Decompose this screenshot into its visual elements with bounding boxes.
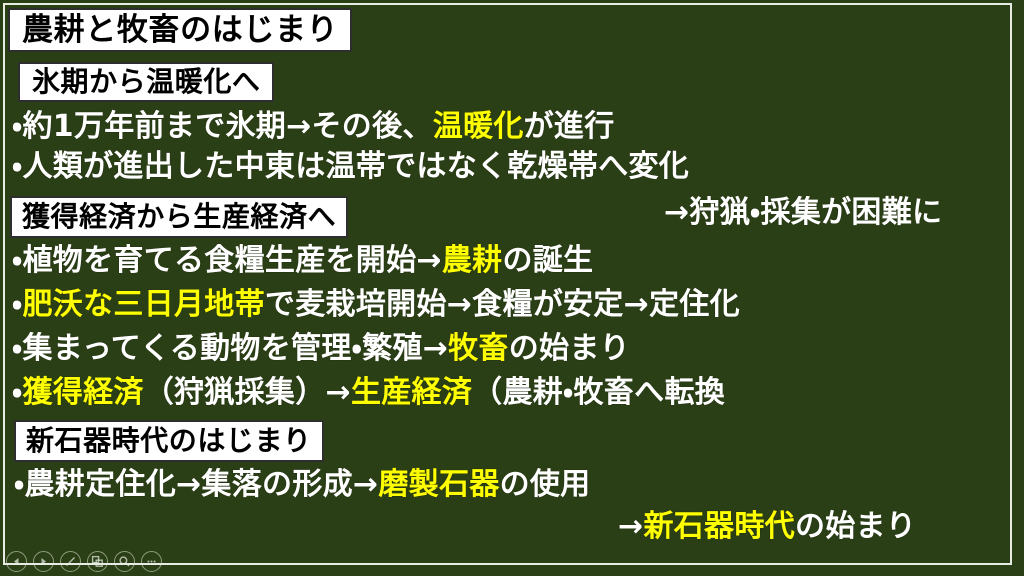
- bullet-line-economy-shift-part-c: （農耕・牧畜へ転換: [472, 375, 725, 410]
- bullet-line-agriculture-birth-part-b: の誕生: [502, 243, 593, 278]
- bullet-line-warming-part-b: が進行: [524, 109, 615, 144]
- bullet-line-polished-stone: ・農耕定住化→集落の形成→磨製石器の使用: [14, 470, 590, 500]
- pen-tool-button[interactable]: [60, 551, 81, 572]
- zoom-button[interactable]: [114, 551, 135, 572]
- bullet-line-livestock-part-b: の始まり: [509, 331, 630, 366]
- more-options-button[interactable]: [141, 551, 162, 572]
- bullet-line-economy-shift-part-a: ・: [12, 375, 23, 410]
- bullet-line-economy-shift-highlight-2: 生産経済: [351, 375, 472, 410]
- bullet-line-polished-stone-highlight: 磨製石器: [378, 467, 499, 502]
- section-heading-neolithic: 新石器時代のはじまり: [14, 420, 324, 462]
- bullet-line-economy-shift-part-b: （狩猟採集）→: [144, 375, 351, 410]
- bullet-line-polished-stone-part-a: ・農耕定住化→集落の形成→: [14, 467, 378, 502]
- next-slide-button[interactable]: [33, 551, 54, 572]
- note-neolithic-start-highlight: 新石器時代: [643, 509, 795, 544]
- section-heading-economy-text: 獲得経済から生産経済へ: [22, 203, 336, 231]
- next-slide-icon: [38, 556, 49, 567]
- bullet-line-agriculture-birth-part-a: ・植物を育てる食糧生産を開始→: [12, 243, 442, 278]
- bullet-line-livestock-part-a: ・集まってくる動物を管理・繁殖→: [12, 331, 448, 366]
- section-heading-ice-age: 氷期から温暖化へ: [18, 62, 274, 102]
- previous-slide-button[interactable]: [6, 551, 27, 572]
- bullet-line-middle-east-text: ・人類が進出した中東は温帯ではなく乾燥帯へ変化: [12, 149, 689, 184]
- section-heading-economy: 獲得経済から生産経済へ: [10, 196, 348, 238]
- more-options-icon: [145, 555, 158, 568]
- page-title-text: 農耕と牧畜のはじまり: [22, 15, 338, 46]
- bullet-line-warming: ・約1万年前まで氷期→その後、温暖化が進行: [12, 112, 615, 142]
- bullet-line-livestock-highlight: 牧畜: [448, 331, 509, 366]
- section-heading-neolithic-text: 新石器時代のはじまり: [26, 427, 312, 455]
- note-neolithic-start-part-a: →: [618, 509, 643, 544]
- presenter-toolbar: [4, 551, 164, 574]
- note-hunting-difficult: →狩猟・採集が困難に: [664, 198, 942, 228]
- pen-icon: [64, 555, 77, 568]
- previous-slide-icon: [11, 556, 22, 567]
- bullet-line-fertile-crescent-part-a: ・: [12, 287, 23, 322]
- zoom-icon: [118, 555, 131, 568]
- bullet-line-economy-shift-highlight-1: 獲得経済: [23, 375, 144, 410]
- bullet-line-fertile-crescent-part-b: で麦栽培開始→食糧が安定→定住化: [265, 287, 740, 322]
- bullet-line-agriculture-birth-highlight: 農耕: [442, 243, 503, 278]
- slides-overview-button[interactable]: [87, 551, 108, 572]
- bullet-line-fertile-crescent-highlight: 肥沃な三日月地帯: [23, 287, 265, 322]
- note-neolithic-start-part-b: の始まり: [795, 509, 916, 544]
- bullet-line-middle-east: ・人類が進出した中東は温帯ではなく乾燥帯へ変化: [12, 152, 689, 182]
- page-title: 農耕と牧畜のはじまり: [8, 8, 352, 52]
- bullet-line-fertile-crescent: ・肥沃な三日月地帯で麦栽培開始→食糧が安定→定住化: [12, 290, 740, 320]
- bullet-line-livestock: ・集まってくる動物を管理・繁殖→牧畜の始まり: [12, 334, 630, 364]
- section-heading-ice-age-text: 氷期から温暖化へ: [32, 68, 260, 96]
- note-neolithic-start: →新石器時代の始まり: [618, 512, 916, 542]
- slides-overview-icon: [91, 555, 104, 568]
- bullet-line-polished-stone-part-b: の使用: [500, 467, 591, 502]
- note-hunting-difficult-text: →狩猟・採集が困難に: [664, 195, 942, 230]
- bullet-line-warming-highlight: 温暖化: [433, 109, 524, 144]
- bullet-line-economy-shift: ・獲得経済（狩猟採集）→生産経済（農耕・牧畜へ転換: [12, 378, 725, 408]
- bullet-line-warming-part-a: ・約1万年前まで氷期→その後、: [12, 109, 433, 144]
- bullet-line-agriculture-birth: ・植物を育てる食糧生産を開始→農耕の誕生: [12, 246, 593, 276]
- presentation-slide: 農耕と牧畜のはじまり 氷期から温暖化へ 獲得経済から生産経済へ 新石器時代のはじ…: [0, 0, 1024, 576]
